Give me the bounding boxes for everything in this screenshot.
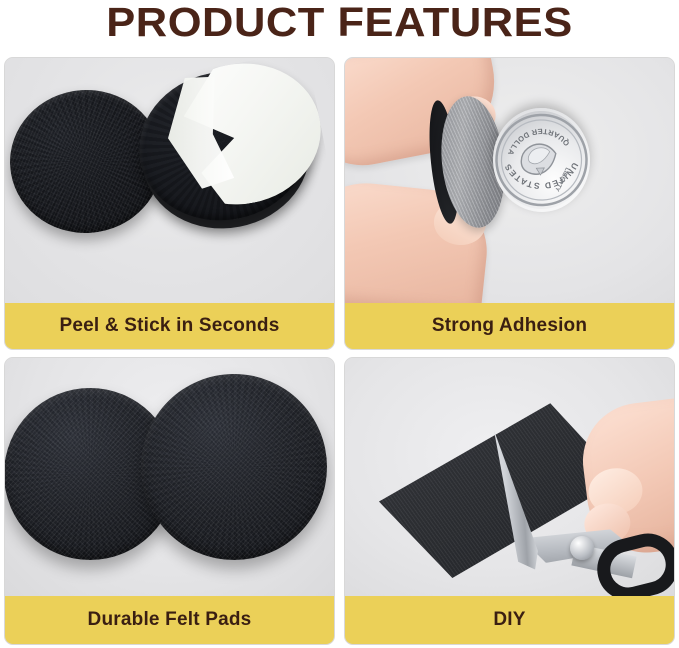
scissors-pivot-screw <box>570 536 594 560</box>
feature-panel-grid: Peel & Stick in Seconds <box>4 57 675 645</box>
felt-pad-right <box>141 374 327 560</box>
feature-image-strong-adhesion: UNITED STATES OF AMERICA QUARTER DOLLAR … <box>345 58 674 303</box>
feature-caption-durable-felt-pads: Durable Felt Pads <box>5 596 334 644</box>
feature-image-diy <box>345 358 674 596</box>
feature-image-peel-and-stick <box>5 58 334 303</box>
quarter-coin: UNITED STATES OF AMERICA QUARTER DOLLAR … <box>491 106 592 213</box>
feature-panel-strong-adhesion[interactable]: UNITED STATES OF AMERICA QUARTER DOLLAR … <box>344 57 675 350</box>
feature-panel-peel-and-stick[interactable]: Peel & Stick in Seconds <box>4 57 335 350</box>
feature-caption-diy: DIY <box>345 596 674 644</box>
feature-panel-diy[interactable]: DIY <box>344 357 675 645</box>
feature-image-durable-felt-pads <box>5 358 334 596</box>
feature-panel-durable-felt-pads[interactable]: Durable Felt Pads <box>4 357 335 645</box>
feature-caption-strong-adhesion: Strong Adhesion <box>345 303 674 349</box>
page-title: PRODUCT FEATURES <box>0 1 679 43</box>
product-features-infographic: PRODUCT FEATURES Peel & Stick in Seconds <box>0 0 679 648</box>
feature-caption-peel-and-stick: Peel & Stick in Seconds <box>5 303 334 349</box>
